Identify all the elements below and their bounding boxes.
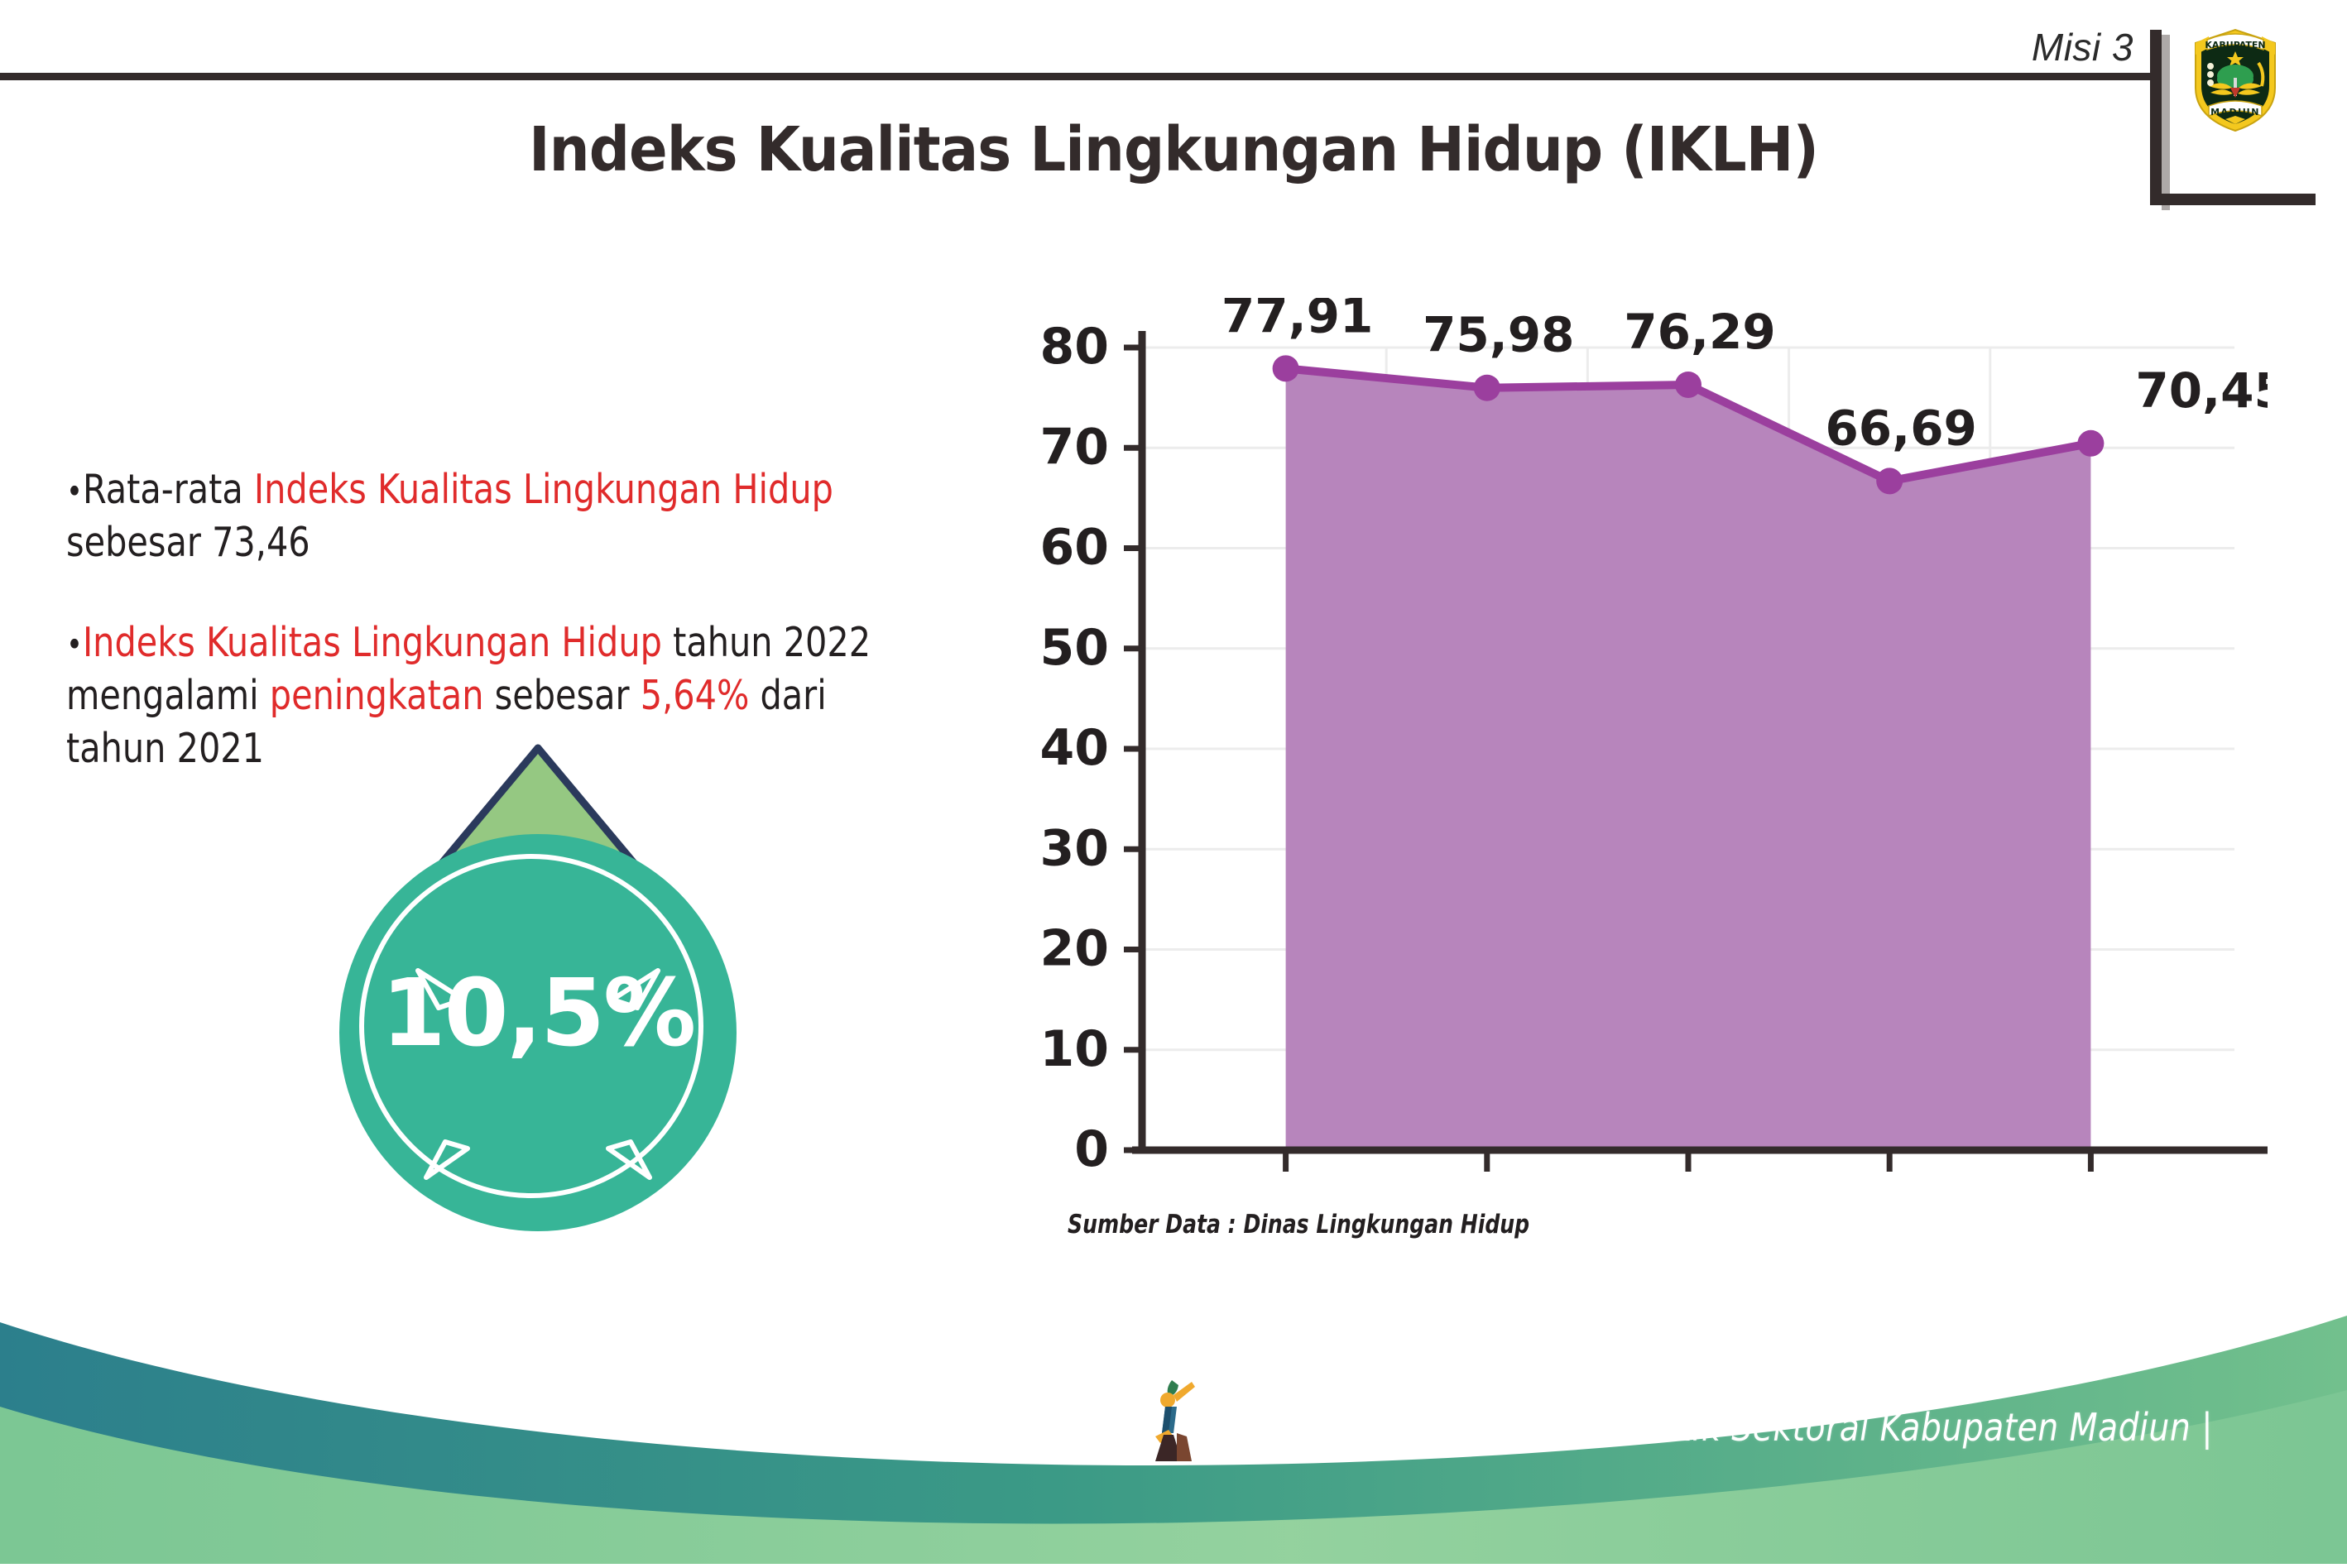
header-corner-bottom	[2150, 194, 2316, 205]
logo-top-text: KABUPATEN	[2205, 40, 2265, 50]
bullet-text-run: Indeks Kualitas Lingkungan Hidup	[83, 619, 662, 666]
data-point-marker	[2077, 430, 2104, 457]
data-label: 70,45	[2135, 362, 2268, 419]
x-axis-tick-label: 2018	[1211, 1185, 1361, 1192]
iklh-area-chart: 77,9175,9876,2966,6970,45010203040506070…	[977, 298, 2268, 1192]
data-label: 75,98	[1423, 307, 1574, 363]
bullet-text-run: sebesar 73,46	[66, 519, 310, 566]
y-axis-tick-label: 20	[1040, 920, 1110, 978]
area-fill	[1286, 368, 2091, 1150]
source-note: Sumber Data : Dinas Lingkungan Hidup	[1068, 1210, 1529, 1240]
y-axis-tick-label: 0	[1074, 1120, 1109, 1178]
y-axis-tick-label: 60	[1040, 519, 1110, 577]
data-point-marker	[1474, 375, 1500, 401]
x-axis-tick-label: 2021	[1815, 1185, 1965, 1192]
data-label: 76,29	[1624, 304, 1775, 360]
bullet-text-run: Rata-rata	[83, 466, 254, 513]
bullet-text-run: peningkatan	[270, 672, 484, 719]
x-axis-tick-label: 2020	[1613, 1185, 1763, 1192]
y-axis-tick-label: 50	[1040, 619, 1110, 677]
bullet-dot-icon: •	[66, 473, 83, 511]
data-point-marker	[1876, 468, 1903, 494]
data-point-marker	[1675, 372, 1701, 398]
x-axis-tick-label: 2019	[1412, 1185, 1562, 1192]
x-axis-tick-label: 2022	[2016, 1185, 2166, 1192]
bullet-item-average: •Rata-rata Indeks Kualitas Lingkungan Hi…	[66, 463, 906, 568]
header-rule	[0, 73, 2157, 80]
data-label: 77,91	[1221, 298, 1373, 343]
y-axis-tick-label: 40	[1040, 719, 1110, 777]
page-title: Indeks Kualitas Lingkungan Hidup (IKLH)	[82, 114, 2264, 185]
badge-value: 10,5%	[323, 960, 753, 1067]
misi-label: Misi 3	[2032, 25, 2133, 70]
data-label: 66,69	[1825, 400, 1976, 456]
y-axis-tick-label: 10	[1040, 1020, 1110, 1078]
bullet-text-run: Indeks Kualitas Lingkungan Hidup	[254, 466, 833, 513]
data-point-marker	[1273, 355, 1299, 381]
growth-badge: 10,5%	[323, 761, 753, 1192]
bullet-text-run: sebesar	[483, 672, 640, 719]
y-axis-tick-label: 70	[1040, 418, 1110, 476]
y-axis-tick-label: 30	[1040, 819, 1110, 877]
footer-text: Media Infografis Data Statistik Sektoral…	[1217, 1405, 2213, 1450]
bullet-dot-icon: •	[66, 626, 83, 664]
y-axis-tick-label: 80	[1040, 318, 1110, 376]
footer: Media Infografis Data Statistik Sektoral…	[0, 1266, 2347, 1564]
bullet-text-run: 5,64%	[641, 672, 750, 719]
statistics-figure-icon	[1140, 1375, 1215, 1466]
